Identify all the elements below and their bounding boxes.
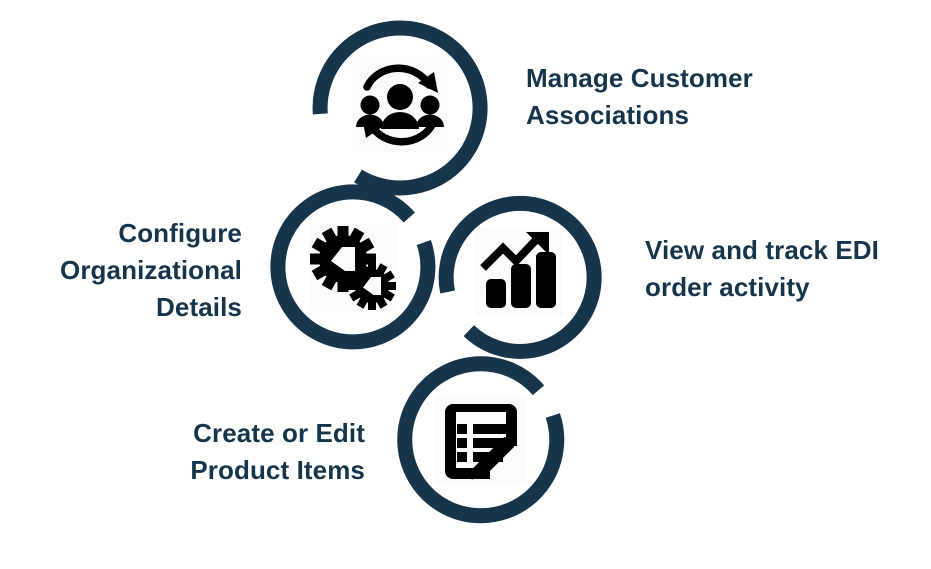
label-create-edit-product-items: Create or Edit Product Items	[145, 415, 365, 489]
gears-icon	[309, 223, 397, 311]
bar-chart-trend-icon	[475, 228, 563, 316]
process-cycle-diagram: Manage Customer Associations Configure O…	[0, 0, 931, 569]
people-sync-icon	[352, 57, 448, 153]
document-edit-icon	[435, 394, 527, 486]
label-manage-customer-associations: Manage Customer Associations	[526, 60, 856, 134]
label-configure-organizational-details: Configure Organizational Details	[42, 215, 242, 326]
label-view-track-edi-order-activity: View and track EDI order activity	[645, 232, 925, 306]
